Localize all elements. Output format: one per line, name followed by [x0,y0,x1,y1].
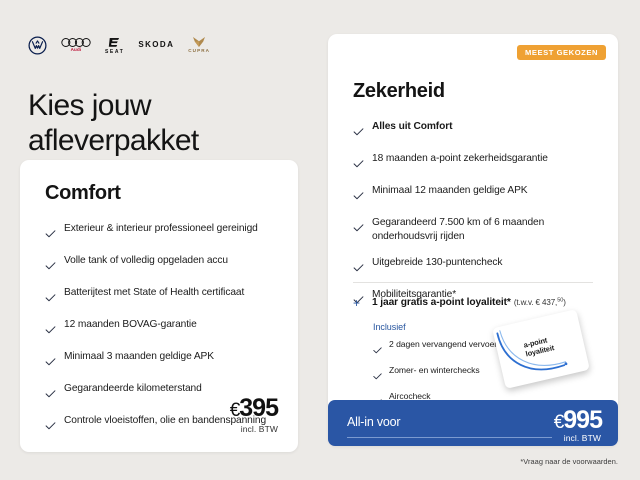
list-item-label: Minimaal 12 maanden geldige APK [372,184,527,198]
check-icon [353,219,364,237]
check-icon [373,367,382,385]
all-in-label: All-in voor [347,415,400,429]
check-icon [353,259,364,277]
zekerheid-package-card[interactable]: MEEST GEKOZEN Zekerheid Alles uit Comfor… [328,34,618,446]
comfort-price-note: incl. BTW [230,424,278,434]
check-icon [45,225,56,243]
zekerheid-price-amount: €995 [554,408,602,433]
cupra-logo: CUPRA [188,36,210,54]
list-item: Exterieur & interieur professioneel gere… [45,222,280,243]
list-item-label: Gegarandeerde kilometerstand [64,382,202,396]
list-item: Volle tank of volledig opgeladen accu [45,254,280,275]
list-item-label: Zomer- en winterchecks [389,365,480,376]
zekerheid-price-note: incl. BTW [564,433,601,443]
audi-wordmark: Audi [71,48,82,53]
list-item: Uitgebreide 130-puntencheck [353,256,598,277]
list-item-label: Volle tank of volledig opgeladen accu [64,254,228,268]
volkswagen-logo [28,36,47,55]
list-item: Minimaal 12 maanden geldige APK [353,184,598,205]
comfort-price: €395 incl. BTW [230,396,278,434]
price-rule [347,437,552,438]
loyalty-title: 1 jaar gratis a-point loyaliteit* [372,297,511,308]
skoda-wordmark: SKODA [138,41,174,49]
list-item: 18 maanden a-point zekerheidsgarantie [353,152,598,173]
status-badge: MEEST GEKOZEN [517,45,606,60]
zekerheid-price-bar[interactable]: All-in voor €995 incl. BTW [328,400,618,446]
zekerheid-title: Zekerheid [353,80,445,103]
section-divider [353,282,593,283]
plus-icon: + [353,297,364,309]
page-title: Kies jouw afleverpakket [28,88,308,158]
comfort-price-value: 395 [239,394,278,422]
cupra-wordmark: CUPRA [188,49,210,54]
brand-logo-bar: Audi SEAT SKODA CUPRA [28,33,210,57]
check-icon [45,353,56,371]
loyalty-worth-suffix: ) [563,298,566,307]
check-icon [45,417,56,435]
seat-wordmark: SEAT [105,50,124,55]
loyalty-worth: (t.w.v. € 437,50) [514,298,566,307]
list-item: Batterijtest met State of Health certifi… [45,286,280,307]
list-item: Gegarandeerd 7.500 km of 6 maanden onder… [353,216,598,245]
list-item-label: 2 dagen vervangend vervoer [389,339,497,350]
loyalty-worth-prefix: (t.w.v. € 437, [514,298,557,307]
check-icon [45,321,56,339]
list-item-label: Alles uit Comfort [372,120,452,134]
list-item-label: Gegarandeerd 7.500 km of 6 maanden onder… [372,216,598,245]
list-item-label: 12 maanden BOVAG-garantie [64,318,197,332]
seat-logo: SEAT [105,36,124,55]
zekerheid-price-value: 995 [563,406,602,434]
list-item-label: Minimaal 3 maanden geldige APK [64,350,214,364]
check-icon [45,385,56,403]
loyalty-highlight-text: 1 jaar gratis a-point loyaliteit*(t.w.v.… [372,296,566,310]
list-item: 12 maanden BOVAG-garantie [45,318,280,339]
list-item: Minimaal 3 maanden geldige APK [45,350,280,371]
list-item: Alles uit Comfort [353,120,598,141]
comfort-package-card[interactable]: Comfort Exterieur & interieur profession… [20,160,298,452]
currency-symbol: € [230,400,240,421]
currency-symbol: € [554,412,564,433]
list-item-label: Uitgebreide 130-puntencheck [372,256,502,270]
zekerheid-feature-list: Alles uit Comfort 18 maanden a-point zek… [353,120,598,320]
list-item-label: Batterijtest met State of Health certifi… [64,286,244,300]
check-icon [353,187,364,205]
check-icon [353,155,364,173]
list-item-label: Exterieur & interieur professioneel gere… [64,222,258,236]
loyalty-highlight-row: + 1 jaar gratis a-point loyaliteit*(t.w.… [353,296,603,310]
left-column: Audi SEAT SKODA CUPRA Kies jouw af [0,0,318,480]
check-icon [45,257,56,275]
check-icon [353,123,364,141]
afleverpakket-screen: Audi SEAT SKODA CUPRA Kies jouw af [0,0,640,480]
comfort-title: Comfort [45,182,121,205]
check-icon [45,289,56,307]
list-item-label: 18 maanden a-point zekerheidsgarantie [372,152,548,166]
skoda-logo: SKODA [138,41,174,49]
footer-disclaimer: *Vraag naar de voorwaarden. [520,457,618,466]
comfort-price-amount: €395 [230,396,278,421]
check-icon [373,341,382,359]
audi-logo: Audi [61,37,91,53]
